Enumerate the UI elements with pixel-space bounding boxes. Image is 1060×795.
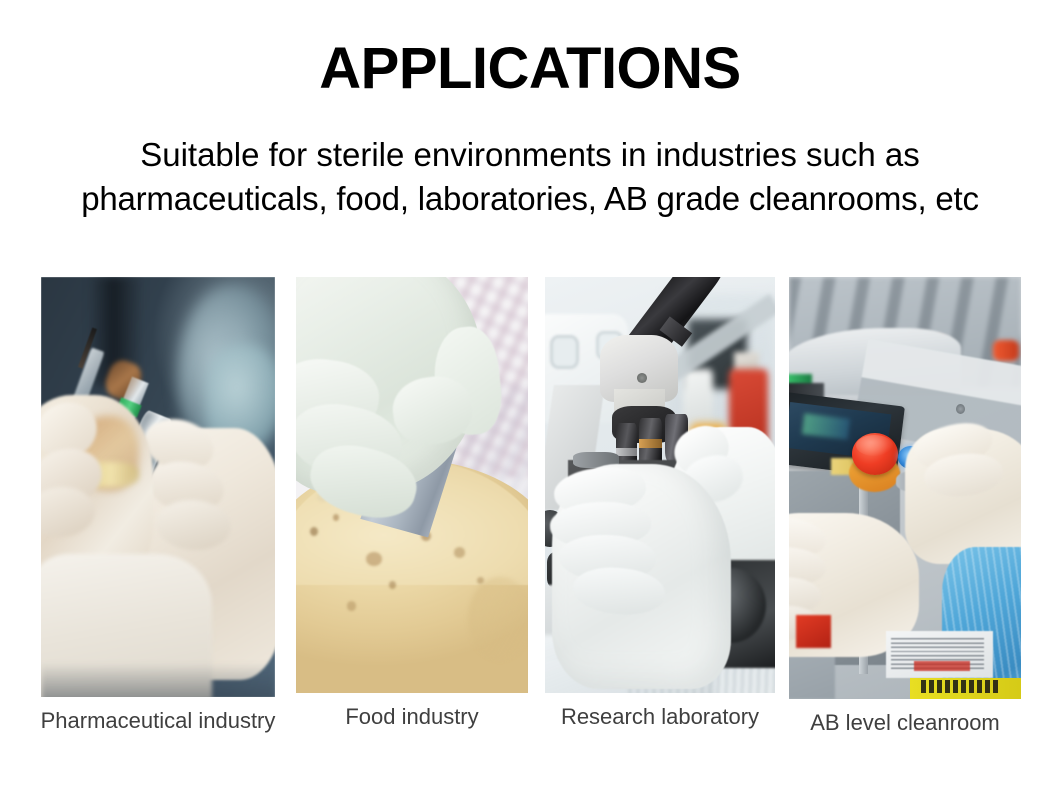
applications-slide: APPLICATIONS Suitable for sterile enviro… bbox=[0, 0, 1060, 795]
pharmaceutical-ampoule-photo bbox=[41, 277, 275, 697]
food-cheese-wheel-photo bbox=[296, 277, 528, 693]
application-gallery: Pharmaceutical industry bbox=[0, 0, 1060, 795]
research-microscope-photo bbox=[545, 277, 775, 693]
gallery-item-cleanroom[interactable]: AB level cleanroom bbox=[789, 277, 1021, 699]
gallery-item-research-lab[interactable]: Research laboratory bbox=[545, 277, 775, 693]
gallery-caption-food: Food industry bbox=[270, 703, 554, 731]
gallery-item-food[interactable]: Food industry bbox=[296, 277, 528, 693]
gallery-caption-research-lab: Research laboratory bbox=[519, 703, 801, 731]
gallery-item-pharmaceutical[interactable]: Pharmaceutical industry bbox=[41, 277, 275, 697]
gallery-caption-pharmaceutical: Pharmaceutical industry bbox=[15, 707, 301, 735]
gallery-caption-cleanroom: AB level cleanroom bbox=[763, 709, 1047, 737]
cleanroom-control-panel-photo bbox=[789, 277, 1021, 699]
